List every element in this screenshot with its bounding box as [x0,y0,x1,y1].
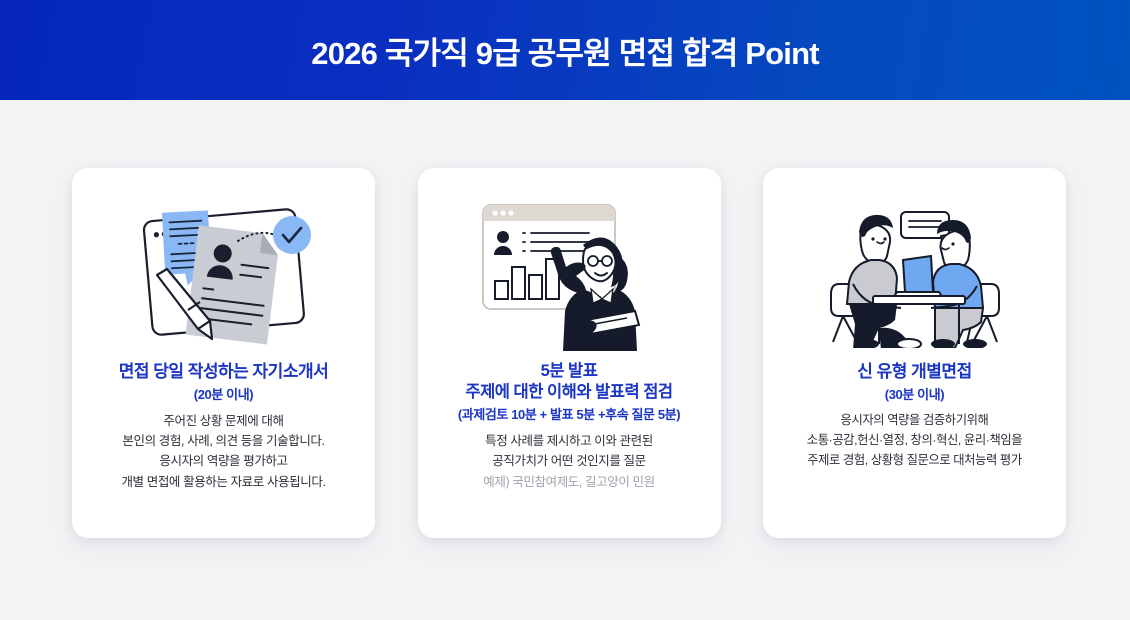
card-body: 주어진 상황 문제에 대해 본인의 경험, 사례, 의견 등을 기술합니다. 응… [86,411,361,492]
card-title-second-line: 주제에 대한 이해와 발표력 점검 [432,382,707,403]
card-individual-interview[interactable]: 신 유형 개별면접 (30분 이내) 응시자의 역량을 검증하기위해 소통·공감… [763,168,1066,538]
interview-table-illustration [815,190,1015,355]
card-five-minute-presentation[interactable]: 5분 발표 주제에 대한 이해와 발표력 점검 (과제검토 10분 + 발표 5… [418,168,721,538]
header-banner: 2026 국가직 9급 공무원 면접 합격 Point [0,0,1130,100]
card-body-line: 소통·공감,헌신·열정, 창의·혁신, 윤리·책임을 [777,431,1052,451]
card-body-line: 개별 면접에 활용하는 자료로 사용됩니다. [86,472,361,492]
card-body-line: 공직가치가 어떤 것인지를 질문 [432,451,707,471]
card-body: 특정 사례를 제시하고 이와 관련된 공직가치가 어떤 것인지를 질문 예제) … [432,431,707,492]
card-body-line: 특정 사례를 제시하고 이와 관련된 [432,431,707,451]
card-body: 응시자의 역량을 검증하기위해 소통·공감,헌신·열정, 창의·혁신, 윤리·책… [777,411,1052,471]
card-body-line: 주제로 경험, 상황형 질문으로 대처능력 평가 [777,451,1052,471]
card-self-introduction[interactable]: 면접 당일 작성하는 자기소개서 (20분 이내) 주어진 상황 문제에 대해 … [72,168,375,538]
card-subtitle: (과제검토 10분 + 발표 5분 +후속 질문 5분) [432,404,707,423]
card-body-line: 주어진 상황 문제에 대해 [86,411,361,431]
card-title: 면접 당일 작성하는 자기소개서 [86,361,361,383]
card-body-line: 응시자의 역량을 평가하고 [86,451,361,471]
card-body-line: 응시자의 역량을 검증하기위해 [777,411,1052,431]
card-title: 5분 발표 [432,361,707,382]
card-note: 예제) 국민참여제도, 길고양이 민원 [432,472,707,492]
card-body-line: 본인의 경험, 사례, 의견 등을 기술합니다. [86,431,361,451]
card-subtitle: (20분 이내) [86,384,361,403]
card-title: 신 유형 개별면접 [777,361,1052,383]
page-title: 2026 국가직 9급 공무원 면접 합격 Point [311,28,819,73]
page-root: 2026 국가직 9급 공무원 면접 합격 Point [0,0,1130,620]
resume-document-illustration [124,190,324,355]
card-list: 면접 당일 작성하는 자기소개서 (20분 이내) 주어진 상황 문제에 대해 … [72,168,1066,538]
card-text-block: 5분 발표 주제에 대한 이해와 발표력 점검 (과제검토 10분 + 발표 5… [432,361,707,492]
card-subtitle: (30분 이내) [777,384,1052,403]
presenter-chart-illustration [469,190,669,355]
card-text-block: 면접 당일 작성하는 자기소개서 (20분 이내) 주어진 상황 문제에 대해 … [86,361,361,492]
card-text-block: 신 유형 개별면접 (30분 이내) 응시자의 역량을 검증하기위해 소통·공감… [777,361,1052,470]
